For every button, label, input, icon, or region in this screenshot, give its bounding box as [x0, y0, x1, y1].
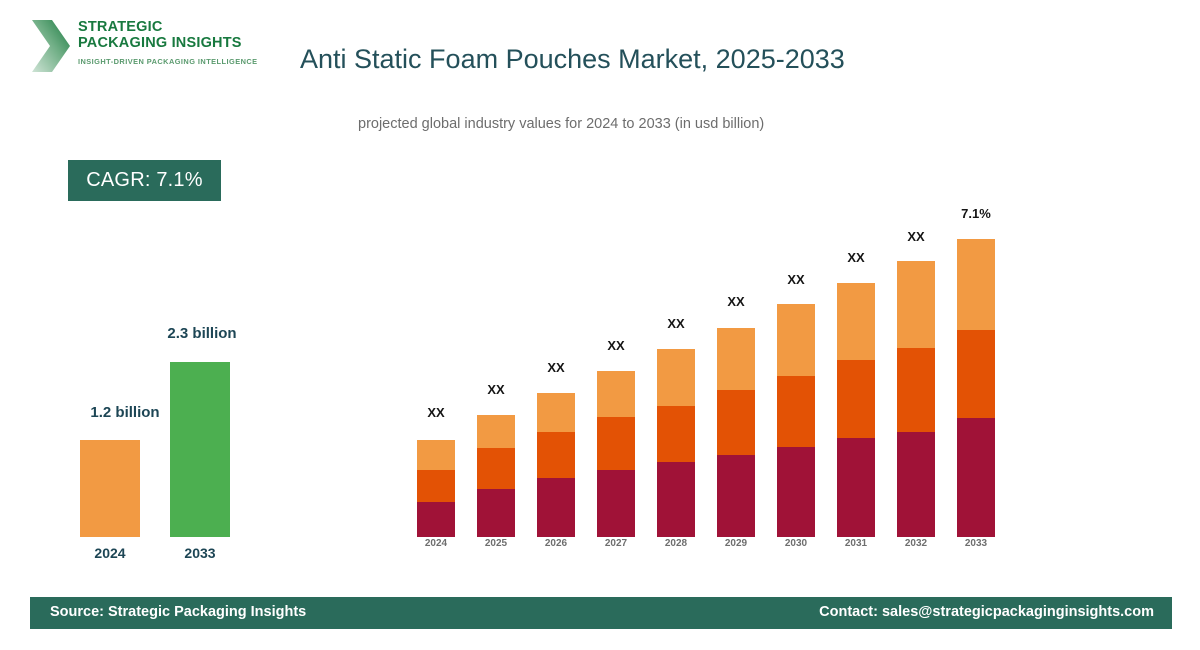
- footer-bar: Source: Strategic Packaging Insights Con…: [30, 597, 1172, 629]
- footer-contact-text: Contact: sales@strategicpackaginginsight…: [819, 604, 1154, 620]
- bar-segment-bottom: [657, 462, 695, 537]
- bar-segment-middle: [957, 330, 995, 418]
- bar-top-label: XX: [897, 229, 935, 244]
- bar-year-label: 2024: [417, 538, 455, 549]
- bar-segment-top: [537, 393, 575, 432]
- stacked-bar-chart: XX2024XX2025XX2026XX2027XX2028XX2029XX20…: [0, 0, 1200, 580]
- stacked-bar: [957, 0, 995, 580]
- bar-top-label: XX: [717, 294, 755, 309]
- bar-segment-bottom: [837, 438, 875, 537]
- bar-year-label: 2026: [537, 538, 575, 549]
- bar-top-label: XX: [657, 316, 695, 331]
- stacked-bar: [597, 0, 635, 580]
- bar-year-label: 2031: [837, 538, 875, 549]
- stacked-bar: [417, 0, 455, 580]
- stacked-bar: [537, 0, 575, 580]
- bar-year-label: 2033: [957, 538, 995, 549]
- bar-top-label: XX: [417, 405, 455, 420]
- bar-segment-bottom: [417, 502, 455, 537]
- bar-year-label: 2030: [777, 538, 815, 549]
- footer-source-text: Source: Strategic Packaging Insights: [50, 604, 306, 620]
- bar-segment-middle: [897, 348, 935, 432]
- bar-segment-middle: [417, 470, 455, 502]
- bar-segment-middle: [717, 390, 755, 455]
- stacked-bar: [837, 0, 875, 580]
- bar-segment-top: [657, 349, 695, 406]
- bar-segment-top: [957, 239, 995, 330]
- bar-year-label: 2029: [717, 538, 755, 549]
- bar-segment-middle: [597, 417, 635, 470]
- bar-segment-top: [597, 371, 635, 417]
- stacked-bar: [777, 0, 815, 580]
- bar-top-label: XX: [537, 360, 575, 375]
- bar-segment-top: [897, 261, 935, 348]
- bar-segment-middle: [837, 360, 875, 438]
- bar-segment-bottom: [717, 455, 755, 537]
- bar-top-label: XX: [477, 382, 515, 397]
- bar-segment-middle: [477, 448, 515, 489]
- bar-top-label: XX: [777, 272, 815, 287]
- bar-year-label: 2028: [657, 538, 695, 549]
- stacked-bar: [897, 0, 935, 580]
- bar-segment-bottom: [477, 489, 515, 537]
- stacked-bar: [717, 0, 755, 580]
- bar-segment-top: [417, 440, 455, 470]
- bar-segment-top: [717, 328, 755, 390]
- bar-year-label: 2032: [897, 538, 935, 549]
- stacked-bar: [657, 0, 695, 580]
- bar-segment-top: [477, 415, 515, 448]
- bar-segment-bottom: [957, 418, 995, 537]
- bar-segment-top: [837, 283, 875, 360]
- bar-top-label: XX: [837, 250, 875, 265]
- bar-segment-bottom: [537, 478, 575, 537]
- bar-segment-bottom: [597, 470, 635, 537]
- bar-segment-middle: [777, 376, 815, 447]
- bar-top-label: 7.1%: [957, 206, 995, 221]
- bar-segment-middle: [657, 406, 695, 462]
- bar-segment-bottom: [897, 432, 935, 537]
- bar-year-label: 2025: [477, 538, 515, 549]
- stacked-bar: [477, 0, 515, 580]
- bar-segment-bottom: [777, 447, 815, 537]
- bar-segment-middle: [537, 432, 575, 478]
- bar-segment-top: [777, 304, 815, 376]
- bar-top-label: XX: [597, 338, 635, 353]
- bar-year-label: 2027: [597, 538, 635, 549]
